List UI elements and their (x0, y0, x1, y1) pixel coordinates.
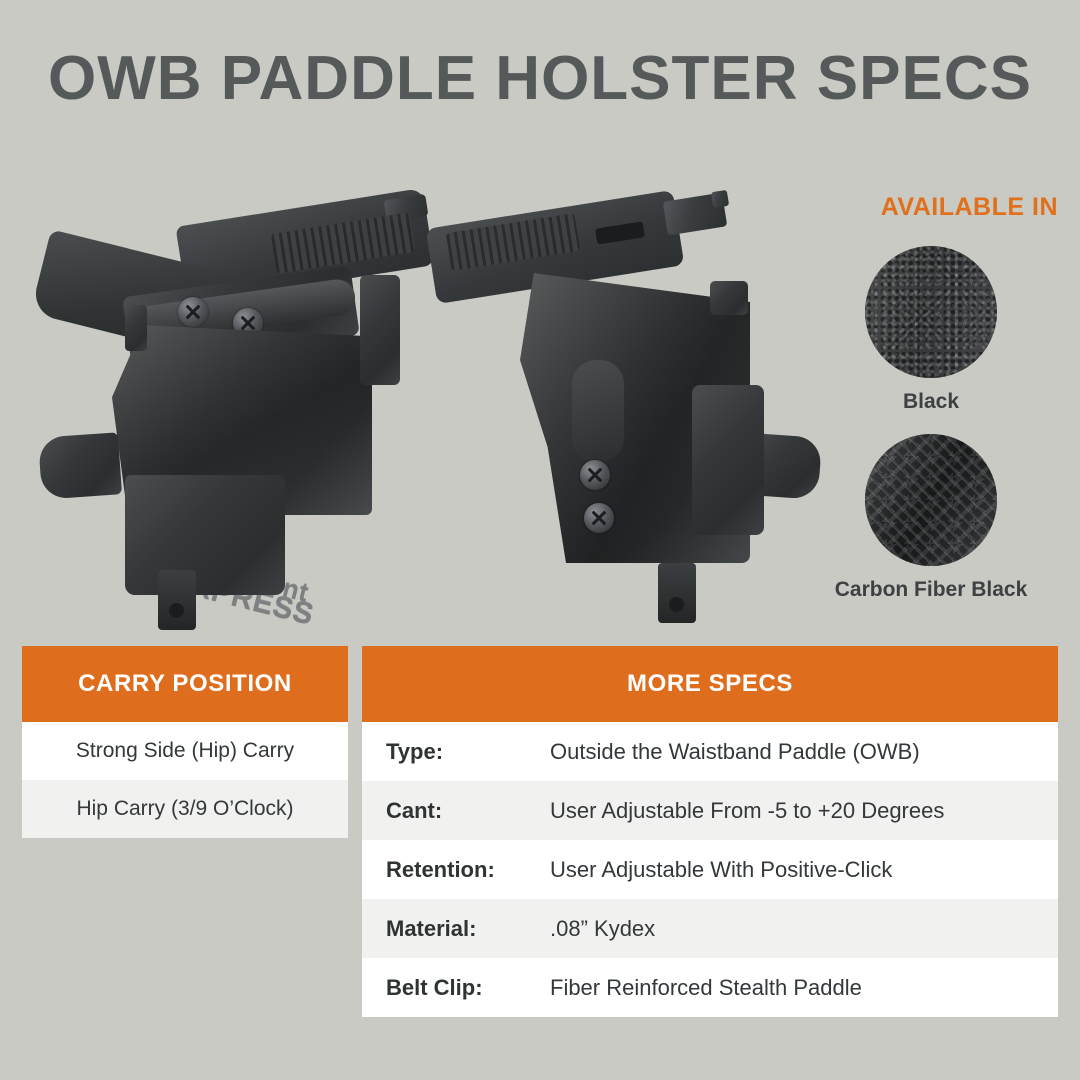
spec-row: Cant: User Adjustable From -5 to +20 Deg… (362, 781, 1058, 840)
carry-position-table: CARRY POSITION Strong Side (Hip) Carry H… (22, 646, 348, 838)
spec-key: Cant: (386, 798, 536, 824)
spec-row: Material: .08” Kydex (362, 899, 1058, 958)
carry-position-row: Strong Side (Hip) Carry (22, 722, 348, 780)
retention-screw-1 (178, 297, 208, 327)
spec-row: Belt Clip: Fiber Reinforced Stealth Padd… (362, 958, 1058, 1017)
black-swatch-caption: Black (865, 390, 997, 414)
spec-key: Type: (386, 739, 536, 765)
belt-slot-right (360, 275, 400, 385)
pistol-front-sight-back (711, 190, 729, 208)
spec-key: Retention: (386, 857, 536, 883)
page-title: OWB PADDLE HOLSTER SPECS (0, 46, 1080, 111)
paddle-hook-left (38, 432, 122, 499)
black-texture (865, 246, 997, 378)
infographic-page: OWB PADDLE HOLSTER SPECS Concealment EXP… (0, 0, 1080, 1080)
more-specs-table: MORE SPECS Type: Outside the Waistband P… (362, 646, 1058, 1017)
retention-screw-back-1 (580, 460, 610, 490)
small-tab-right (125, 305, 147, 351)
muzzle-tab-back (658, 563, 696, 623)
spec-value: User Adjustable From -5 to +20 Degrees (550, 798, 944, 824)
carry-position-header: CARRY POSITION (22, 646, 348, 722)
spec-value: User Adjustable With Positive-Click (550, 857, 892, 883)
spec-key: Material: (386, 916, 536, 942)
retention-screw-back-2 (584, 503, 614, 533)
carry-position-row: Hip Carry (3/9 O’Clock) (22, 780, 348, 838)
trigger-guard-relief (572, 360, 624, 462)
holster-front-view: Concealment EXPRESS (30, 185, 430, 625)
carbon-fiber-black-swatch[interactable]: Carbon Fiber Black (865, 434, 1055, 602)
black-swatch[interactable]: Black (865, 246, 997, 414)
carbon-fiber-swatch-caption: Carbon Fiber Black (807, 578, 1055, 602)
spec-value: Outside the Waistband Paddle (OWB) (550, 739, 920, 765)
spec-value: Fiber Reinforced Stealth Paddle (550, 975, 862, 1001)
product-image-area: Concealment EXPRESS (0, 175, 830, 630)
muzzle-tab-hole (169, 603, 184, 618)
spec-row: Retention: User Adjustable With Positive… (362, 840, 1058, 899)
spec-row: Type: Outside the Waistband Paddle (OWB) (362, 722, 1058, 781)
muzzle-tab (158, 570, 196, 630)
shell-lower-extension (125, 475, 285, 595)
available-in-label: AVAILABLE IN (881, 193, 1058, 222)
paddle-body-right (692, 385, 764, 535)
black-swatch-circle[interactable] (865, 246, 997, 378)
holster-back-view (420, 185, 820, 625)
spec-value: .08” Kydex (550, 916, 655, 942)
belt-slot-left-back (710, 281, 748, 315)
spec-key: Belt Clip: (386, 975, 536, 1001)
carbon-fiber-texture (865, 434, 997, 566)
more-specs-header: MORE SPECS (362, 646, 1058, 722)
carbon-fiber-swatch-circle[interactable] (865, 434, 997, 566)
muzzle-tab-hole-back (669, 597, 684, 612)
